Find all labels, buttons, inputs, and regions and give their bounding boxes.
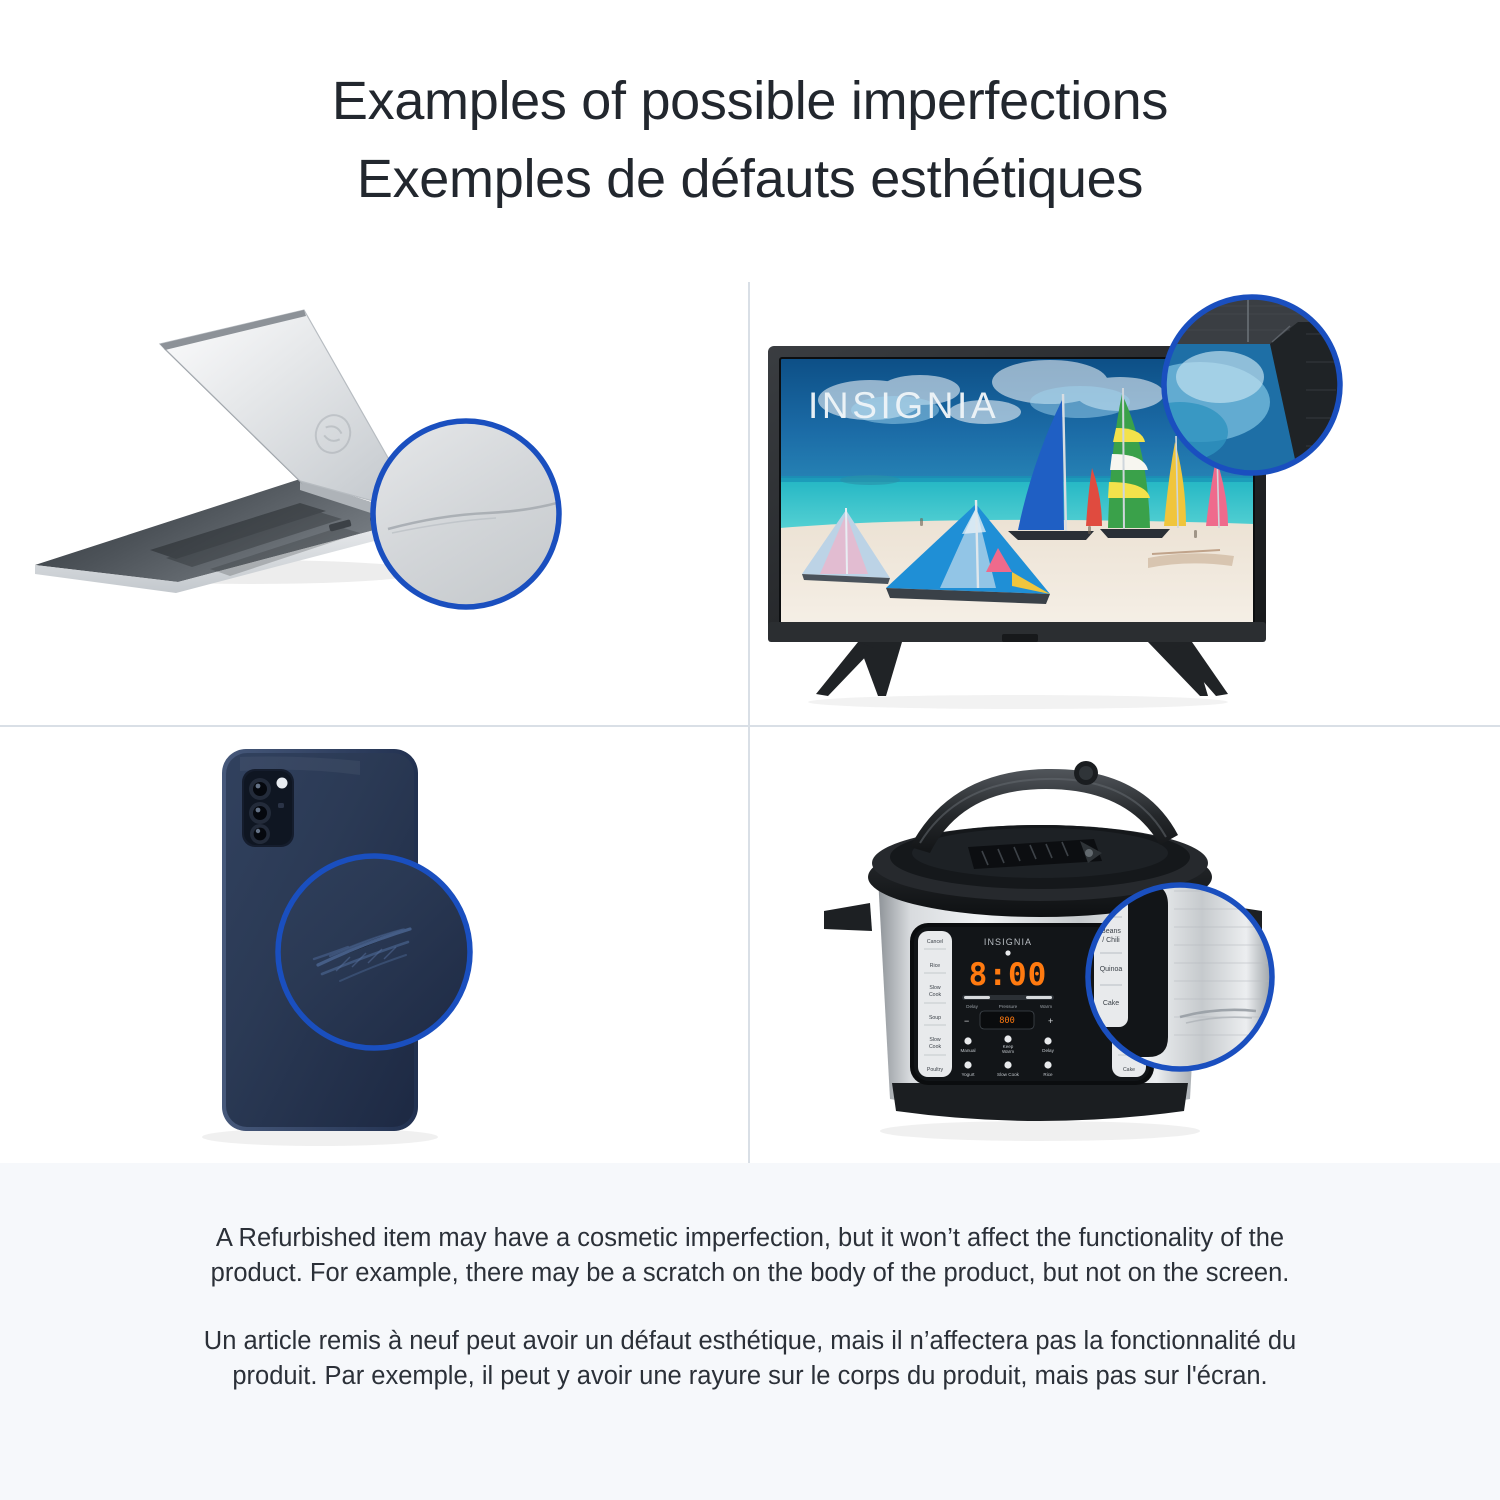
magnifier-circle-smartphone [278, 856, 470, 1048]
svg-text:Rice: Rice [930, 963, 940, 969]
cell-television: INSIGNIA [750, 282, 1500, 725]
magnifier-circle-laptop [373, 421, 564, 607]
svg-text:Pressure: Pressure [999, 1004, 1018, 1009]
cell-laptop [0, 282, 748, 725]
svg-text:Cook: Cook [929, 1044, 942, 1050]
svg-text:Quinoa: Quinoa [1100, 966, 1123, 973]
side-handle-left [824, 903, 872, 931]
svg-text:Rice: Rice [1043, 1072, 1053, 1077]
description-fr: Un article remis à neuf peut avoir un dé… [175, 1324, 1325, 1394]
tv-ir-receiver [1002, 634, 1038, 642]
refurbished-imperfections-infographic: Examples of possible imperfections Exemp… [0, 0, 1500, 1500]
camera-flash [277, 778, 288, 789]
svg-text:−: − [964, 1016, 969, 1026]
tv-brand-text: INSIGNIA [808, 385, 999, 426]
svg-text:+: + [1048, 1016, 1053, 1026]
camera-lens [249, 778, 271, 844]
svg-text:Slow Cook: Slow Cook [997, 1072, 1020, 1077]
svg-text:Cancel: Cancel [927, 939, 943, 945]
description-en: A Refurbished item may have a cosmetic i… [175, 1221, 1325, 1291]
svg-text:Slow: Slow [929, 985, 940, 991]
svg-text:Delay: Delay [1042, 1048, 1054, 1053]
status-led [1005, 950, 1010, 955]
svg-text:Warm: Warm [1040, 1004, 1052, 1009]
cooker-display-value: 8:00 [969, 957, 1048, 993]
cell-smartphone [0, 727, 748, 1163]
svg-text:Poultry: Poultry [927, 1067, 944, 1073]
svg-text:Cook: Cook [929, 992, 942, 998]
page-title-en: Examples of possible imperfections [332, 62, 1168, 140]
cooker-brand-text: INSIGNIA [984, 937, 1032, 947]
svg-text:Soup: Soup [929, 1015, 941, 1021]
footer-description: A Refurbished item may have a cosmetic i… [0, 1163, 1500, 1500]
svg-text:Cake: Cake [1103, 1000, 1119, 1007]
svg-text:800: 800 [999, 1016, 1015, 1026]
svg-text:Manual: Manual [960, 1048, 975, 1053]
product-grid: INSIGNIA [0, 282, 1500, 1163]
svg-text:Cake: Cake [1123, 1067, 1135, 1073]
svg-text:Warm: Warm [1002, 1049, 1014, 1054]
page-title-fr: Exemples de défauts esthétiques [357, 140, 1143, 218]
svg-text:Yogurt: Yogurt [961, 1072, 975, 1077]
svg-text:/ Chili: / Chili [1102, 937, 1120, 944]
header: Examples of possible imperfections Exemp… [0, 0, 1500, 255]
svg-text:Delay: Delay [966, 1004, 978, 1009]
television-legs [816, 642, 1228, 696]
cell-pressure-cooker: Cancel Rice SlowCook Soup SlowCook Poult… [750, 727, 1500, 1163]
button-column-left: Cancel Rice SlowCook Soup SlowCook Poult… [918, 931, 952, 1077]
camera-module [242, 769, 294, 847]
camera-mic [278, 803, 284, 808]
svg-text:Slow: Slow [929, 1037, 940, 1043]
